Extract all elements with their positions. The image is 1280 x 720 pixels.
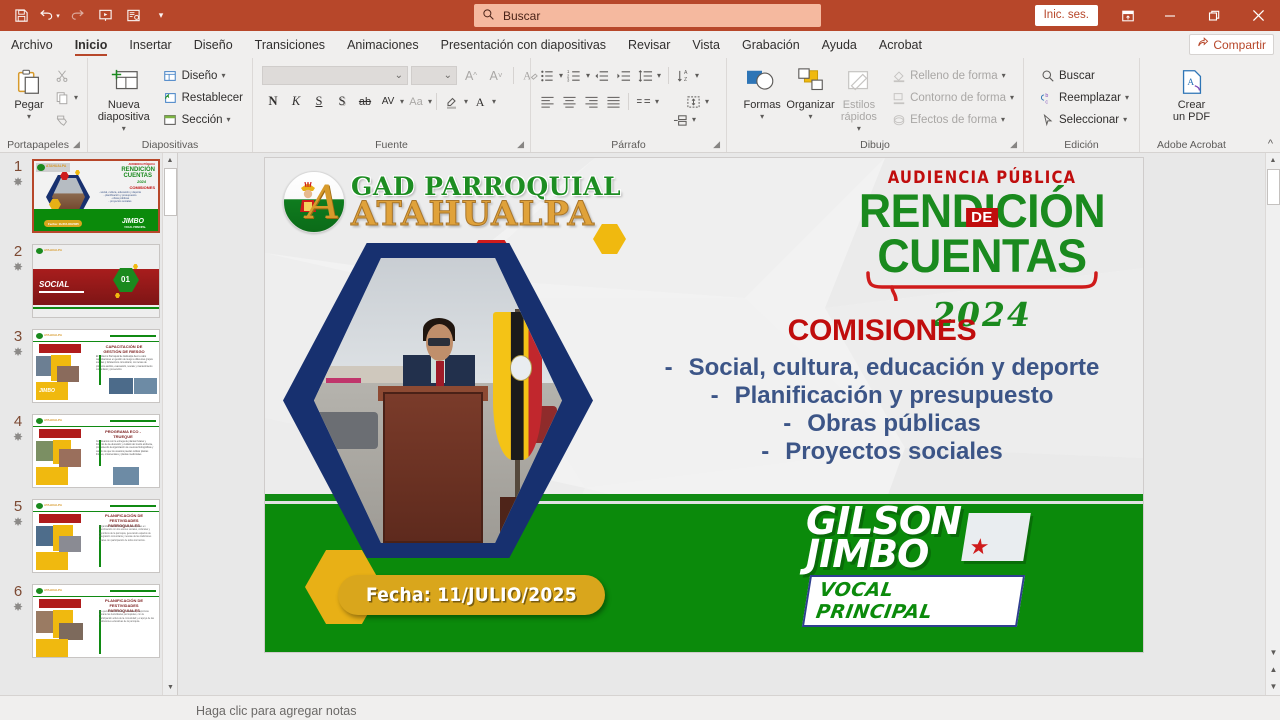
slide-thumbnail-pane: 1 ✸ ATAHUALPA AUDIENCIA PÚBLICA RENDICIÓ… [0, 153, 178, 695]
shape-effects-label: Efectos de forma [910, 114, 997, 126]
replace-button[interactable]: bc Reemplazar ▾ [1036, 87, 1133, 108]
previous-slide-icon[interactable]: ▼ [1266, 644, 1280, 661]
smartart-icon[interactable] [670, 109, 691, 130]
customize-qat-icon[interactable]: ▾ [148, 4, 174, 28]
section-icon [163, 112, 178, 127]
bullet-dash: - [783, 410, 791, 437]
select-chevron-down-icon[interactable]: ▾ [1123, 115, 1127, 124]
slide-thumbnail-4[interactable]: 4 ✸ ATAHUALPA PROGRAMA ECO -TRUEQUE [0, 414, 177, 488]
ribbon-display-options-icon[interactable] [1108, 0, 1148, 31]
columns-icon[interactable] [633, 91, 654, 112]
shape-outline-chevron-down-icon[interactable]: ▾ [1010, 93, 1014, 102]
slide-number: 6 [4, 584, 32, 600]
cursor-icon [1040, 112, 1055, 127]
scroll-down-icon[interactable]: ▼ [1266, 678, 1280, 695]
quick-styles-button[interactable]: Estilos rápidos ▾ [835, 63, 883, 135]
section-button[interactable]: Sección ▾ [159, 109, 247, 130]
quick-styles-icon [844, 65, 874, 99]
copy-chevron-down-icon[interactable]: ▾ [74, 93, 78, 102]
slides-group-label: Diapositivas [142, 139, 199, 151]
animation-star-icon[interactable]: ✸ [4, 515, 32, 529]
scrollbar-thumb[interactable] [1267, 169, 1280, 205]
speaker-role-banner: VOCAL PRINCIPAL [802, 575, 1025, 627]
select-button[interactable]: Seleccionar ▾ [1036, 109, 1133, 130]
svg-text:Z: Z [684, 77, 687, 83]
de-badge: DE [966, 208, 998, 227]
title-block[interactable]: AUDIENCIA PÚBLICA RENDICIÓN DE CUENTAS 2… [837, 168, 1127, 334]
editing-group-label: Edición [1064, 139, 1098, 151]
redo-icon[interactable] [64, 4, 90, 28]
window-controls: Inic. ses. [1035, 0, 1280, 31]
select-label: Seleccionar [1059, 114, 1119, 126]
replace-icon: bc [1040, 90, 1055, 105]
animation-star-icon[interactable]: ✸ [4, 600, 32, 614]
sort-chevron-down-icon[interactable]: ▾ [695, 71, 699, 80]
shape-fill-chevron-down-icon[interactable]: ▾ [1002, 71, 1006, 80]
close-button[interactable] [1236, 0, 1280, 31]
font-color-button[interactable]: A [469, 91, 491, 112]
slide-editing-area[interactable]: A GAD PARROQUIAL ATAHUALPA AUDIENCIA PÚB… [265, 158, 1143, 652]
italic-button[interactable]: K [285, 91, 307, 112]
shapes-label: Formas [744, 99, 781, 111]
shape-fill-label: Relleno de forma [910, 70, 998, 82]
thumbnail-image: ATAHUALPA PLANIFICACIÓN DEFESTIVIDADES P… [32, 499, 160, 573]
tab-vista[interactable]: Vista [681, 31, 731, 58]
justify-icon[interactable] [603, 91, 624, 112]
paste-label: Pegar [14, 99, 43, 111]
text-shadow-button[interactable]: S [331, 91, 353, 112]
tab-inicio[interactable]: Inicio [64, 31, 119, 58]
drawing-group-label: Dibujo [860, 139, 890, 151]
acrobat-group-label: Adobe Acrobat [1157, 139, 1226, 151]
bullet-dash: - [665, 354, 673, 381]
share-button[interactable]: Compartir [1189, 34, 1274, 55]
animation-star-icon[interactable]: ✸ [4, 430, 32, 444]
scroll-up-icon[interactable]: ▲ [163, 153, 177, 168]
animation-star-icon[interactable]: ✸ [4, 260, 32, 274]
comision-item-3: -Obras públicas [629, 410, 1135, 438]
slide-thumbnail-5[interactable]: 5 ✸ ATAHUALPA PLANIFICACIÓN DEFESTIVIDAD… [0, 499, 177, 573]
line-spacing-icon[interactable] [635, 65, 656, 86]
quick-access-toolbar: ▾ ▾ [0, 4, 174, 28]
ribbon-group-acrobat: A Crear un PDF Adobe Acrobat [1139, 58, 1243, 152]
bold-button[interactable]: N [262, 91, 284, 112]
tab-transiciones[interactable]: Transiciones [244, 31, 336, 58]
ribbon-group-clipboard: Pegar ▾ ▾ [0, 58, 87, 152]
date-badge[interactable]: Fecha: 11/JULIO/2025 [338, 575, 605, 615]
find-button[interactable]: Buscar [1036, 65, 1133, 86]
decrease-font-size-icon[interactable]: A˅ [485, 65, 507, 86]
star-icon: ★ [968, 537, 991, 557]
minimize-button[interactable] [1148, 0, 1192, 31]
replace-chevron-down-icon[interactable]: ▾ [1125, 93, 1129, 102]
quick-styles-label: Estilos rápidos [835, 99, 883, 123]
new-slide-icon [108, 65, 140, 99]
svg-text:3: 3 [567, 77, 570, 82]
svg-text:A: A [1187, 78, 1194, 88]
slide-thumbnail-3[interactable]: 3 ✸ ATAHUALPA CAPACITACIÓN DEGESTIÓN DE … [0, 329, 177, 403]
font-size-input[interactable]: ⌄ [411, 66, 457, 85]
thumbnail-image: ATAHUALPA SOCIAL 01 [32, 244, 160, 318]
comision-item-2: -Planificación y presupuesto [629, 382, 1135, 410]
slide-canvas-pane: A GAD PARROQUIAL ATAHUALPA AUDIENCIA PÚB… [178, 153, 1280, 695]
strikethrough-button[interactable]: ab [354, 91, 376, 112]
arrange-label: Organizar [786, 99, 834, 111]
drawing-dialog-launcher-icon[interactable]: ◢ [1010, 139, 1017, 150]
slide-number: 3 [4, 329, 32, 345]
svg-text:A: A [684, 70, 688, 76]
align-text-chevron-down-icon[interactable]: ▾ [705, 97, 709, 106]
align-center-icon[interactable] [559, 91, 580, 112]
increase-font-size-icon[interactable]: A^ [460, 65, 482, 86]
clipboard-dialog-launcher-icon[interactable]: ◢ [73, 139, 80, 150]
tab-archivo[interactable]: Archivo [0, 31, 64, 58]
character-spacing-chevron-down-icon[interactable]: ▾ [400, 97, 404, 106]
slide-number: 2 [4, 244, 32, 260]
comision-item-4: -Proyectos sociales [629, 438, 1135, 466]
create-pdf-line1: Crear [1178, 99, 1206, 111]
font-name-input[interactable]: ⌄ [262, 66, 408, 85]
paste-chevron-down-icon[interactable]: ▾ [27, 111, 31, 123]
date-label: Fecha: 11/JULIO/2025 [366, 584, 577, 606]
new-slide-label: Nueva diapositiva [93, 99, 155, 123]
scroll-down-icon[interactable]: ▼ [163, 680, 178, 695]
cut-button[interactable] [51, 65, 82, 86]
reset-button[interactable]: Restablecer [159, 87, 247, 108]
copy-button[interactable]: ▾ [51, 87, 82, 108]
paragraph-group-label: Párrafo [611, 139, 645, 151]
slide-thumbnail-list: 1 ✸ ATAHUALPA AUDIENCIA PÚBLICA RENDICIÓ… [0, 153, 177, 658]
new-slide-button[interactable]: Nueva diapositiva ▾ [93, 63, 155, 135]
copy-icon [55, 90, 70, 105]
bullets-chevron-down-icon[interactable]: ▾ [559, 71, 563, 80]
quick-styles-chevron-down-icon[interactable]: ▾ [857, 123, 861, 135]
ribbon-group-editing: Buscar bc Reemplazar ▾ Seleccionar ▾ [1023, 58, 1139, 152]
slide-thumbnail-6[interactable]: 6 ✸ ATAHUALPA PLANIFICACIÓN DEFESTIVIDAD… [0, 584, 177, 658]
format-painter-icon [55, 112, 70, 127]
logo-swirl-icon: A [307, 180, 341, 226]
clipboard-group-label: Portapapeles [7, 139, 69, 151]
save-icon[interactable] [8, 4, 34, 28]
next-slide-icon[interactable]: ▲ [1266, 661, 1280, 678]
gad-parroquial-logo: A GAD PARROQUIAL ATAHUALPA [283, 171, 621, 233]
notes-placeholder: Haga clic para agregar notas [196, 704, 357, 718]
shapes-button[interactable]: Formas ▾ [738, 63, 786, 123]
increase-indent-icon[interactable] [613, 65, 634, 86]
change-case-chevron-down-icon[interactable]: ▾ [428, 97, 432, 106]
create-pdf-icon: A [1177, 65, 1207, 99]
svg-text:c: c [1045, 99, 1048, 105]
undo-icon[interactable]: ▾ [36, 4, 62, 28]
scrollbar-thumb[interactable] [164, 168, 177, 216]
line-spacing-chevron-down-icon[interactable]: ▾ [657, 71, 661, 80]
sort-icon[interactable]: AZ [673, 65, 694, 86]
bullet-dash: - [711, 382, 719, 409]
arrange-chevron-down-icon[interactable]: ▾ [809, 111, 813, 123]
search-input-placeholder: Buscar [503, 9, 540, 23]
change-case-button[interactable]: Aa [405, 91, 427, 112]
shape-outline-label: Contorno de forma [910, 92, 1006, 104]
logo-line-2: ATAHUALPA [351, 197, 621, 231]
tab-revisar[interactable]: Revisar [617, 31, 681, 58]
numbering-chevron-down-icon[interactable]: ▾ [586, 71, 590, 80]
shape-fill-icon [891, 68, 906, 83]
tab-insertar[interactable]: Insertar [118, 31, 182, 58]
tab-presentacion[interactable]: Presentación con diapositivas [430, 31, 617, 58]
search-icon [482, 8, 495, 24]
shape-effects-button[interactable]: Efectos de forma ▾ [887, 109, 1018, 130]
paragraph-dialog-launcher-icon[interactable]: ◢ [713, 139, 720, 150]
shape-effects-chevron-down-icon[interactable]: ▾ [1001, 115, 1005, 124]
create-pdf-button[interactable]: A Crear un PDF [1160, 63, 1224, 123]
shape-effects-icon [891, 112, 906, 127]
ribbon: Pegar ▾ ▾ [0, 58, 1280, 153]
bullets-icon[interactable] [537, 65, 558, 86]
new-slide-chevron-down-icon[interactable]: ▾ [122, 123, 126, 135]
tab-ayuda[interactable]: Ayuda [811, 31, 868, 58]
section-chevron-down-icon[interactable]: ▾ [227, 115, 231, 124]
ribbon-group-font: ⌄ ⌄ A^ A˅ A N K S S ab AV ▾ Aa ▾ [252, 58, 530, 152]
comision-item-1: -Social, cultura, educación y deporte [629, 354, 1135, 382]
speaker-role: VOCAL PRINCIPAL [815, 579, 1013, 623]
start-slideshow-icon[interactable] [92, 4, 118, 28]
reset-label: Restablecer [182, 92, 243, 104]
tab-acrobat[interactable]: Acrobat [868, 31, 933, 58]
canvas-scrollbar[interactable]: ▲ ▼ ▲ ▼ [1265, 153, 1280, 695]
presenter-view-icon[interactable] [120, 4, 146, 28]
search-icon [1040, 68, 1055, 83]
speaker-name-logo[interactable]: ★ GILSON JIMBO VOCAL PRINCIPAL [806, 505, 1021, 627]
sign-in-button[interactable]: Inic. ses. [1035, 5, 1098, 26]
ribbon-group-drawing: Formas ▾ Organizar ▾ Estilos rápidos ▾ [726, 58, 1023, 152]
format-painter-button[interactable] [51, 109, 82, 130]
numbering-icon[interactable]: 123 [564, 65, 585, 86]
paste-button[interactable]: Pegar ▾ [9, 63, 49, 123]
share-label: Compartir [1213, 38, 1266, 52]
layout-icon [163, 68, 178, 83]
notes-pane[interactable]: Haga clic para agregar notas [0, 695, 1280, 720]
tab-animaciones[interactable]: Animaciones [336, 31, 430, 58]
red-brace-decoration [837, 277, 1127, 299]
slide-number: 5 [4, 499, 32, 515]
comisiones-list: -Social, cultura, educación y deporte -P… [629, 354, 1135, 466]
flag-decoration-icon: ★ [961, 513, 1031, 561]
layout-label: Diseño [182, 70, 218, 82]
underline-button[interactable]: S [308, 91, 330, 112]
scroll-up-icon[interactable]: ▲ [1266, 153, 1280, 168]
slide-number: 4 [4, 414, 32, 430]
scissors-icon [55, 68, 70, 83]
character-spacing-button[interactable]: AV [377, 91, 399, 112]
font-dialog-launcher-icon[interactable]: ◢ [517, 139, 524, 150]
arrange-icon [795, 65, 827, 99]
animation-star-icon[interactable]: ✸ [4, 345, 32, 359]
ribbon-tab-bar: Archivo Inicio Insertar Diseño Transicio… [0, 31, 1280, 58]
reset-icon [163, 90, 178, 105]
shape-outline-button[interactable]: Contorno de forma ▾ [887, 87, 1018, 108]
smartart-chevron-down-icon[interactable]: ▾ [692, 115, 696, 124]
shape-fill-button[interactable]: Relleno de forma ▾ [887, 65, 1018, 86]
align-right-icon[interactable] [581, 91, 602, 112]
create-pdf-line2: un PDF [1173, 111, 1210, 123]
slide-number: 1 [4, 159, 32, 175]
font-group-label: Fuente [375, 139, 408, 151]
slide-thumbnail-2[interactable]: 2 ✸ ATAHUALPA SOCIAL 01 [0, 244, 177, 318]
ribbon-group-slides: Nueva diapositiva ▾ Diseño ▾ Restablecer [87, 58, 252, 152]
thumbnail-scrollbar[interactable]: ▲ ▼ [162, 153, 177, 695]
shapes-chevron-down-icon[interactable]: ▾ [760, 111, 764, 123]
tab-grabacion[interactable]: Grabación [731, 31, 811, 58]
shape-outline-icon [891, 90, 906, 105]
restore-button[interactable] [1192, 0, 1236, 31]
font-color-chevron-down-icon[interactable]: ▾ [492, 97, 496, 106]
share-icon [1197, 37, 1209, 52]
layout-button[interactable]: Diseño ▾ [159, 65, 247, 86]
workspace: 1 ✸ ATAHUALPA AUDIENCIA PÚBLICA RENDICIÓ… [0, 153, 1280, 695]
svg-text:b: b [1045, 93, 1048, 99]
shapes-icon [745, 65, 779, 99]
logo-text: GAD PARROQUIAL ATAHUALPA [351, 174, 621, 231]
comisiones-block[interactable]: COMISIONES -Social, cultura, educación y… [629, 314, 1135, 466]
arrange-button[interactable]: Organizar ▾ [786, 63, 834, 123]
thumbnail-image: ATAHUALPA AUDIENCIA PÚBLICA RENDICIÓN CU… [32, 159, 160, 233]
slide-thumbnail-1[interactable]: 1 ✸ ATAHUALPA AUDIENCIA PÚBLICA RENDICIÓ… [0, 159, 177, 233]
tab-diseno[interactable]: Diseño [183, 31, 244, 58]
title-bar: ▾ ▾ rendicion de cuenta 2024 - PowerPoin… [0, 0, 1280, 31]
layout-chevron-down-icon[interactable]: ▾ [221, 71, 225, 80]
animation-star-icon[interactable]: ✸ [4, 175, 32, 189]
text-highlight-color-button[interactable] [441, 91, 463, 112]
paste-icon [14, 65, 44, 99]
ribbon-group-paragraph: ▾ 123 ▾ ▾ AZ ▾ [530, 58, 726, 152]
thumbnail-image: ATAHUALPA CAPACITACIÓN DEGESTIÓN DE RIES… [32, 329, 160, 403]
decrease-indent-icon[interactable] [591, 65, 612, 86]
section-label: Sección [182, 114, 223, 126]
comisiones-heading: COMISIONES [629, 314, 1135, 348]
thumbnail-image: ATAHUALPA PROGRAMA ECO -TRUEQUE Continua… [32, 414, 160, 488]
columns-chevron-down-icon[interactable]: ▾ [655, 97, 659, 106]
align-left-icon[interactable] [537, 91, 558, 112]
collapse-ribbon-icon[interactable]: ^ [1268, 138, 1273, 150]
bullet-dash: - [761, 438, 769, 465]
replace-label: Reemplazar [1059, 92, 1121, 104]
search-box[interactable]: Buscar [474, 4, 821, 27]
find-label: Buscar [1059, 70, 1095, 82]
logo-badge-icon: A [283, 171, 345, 233]
thumbnail-image: ATAHUALPA PLANIFICACIÓN DEFESTIVIDADES P… [32, 584, 160, 658]
highlight-chevron-down-icon[interactable]: ▾ [464, 97, 468, 106]
